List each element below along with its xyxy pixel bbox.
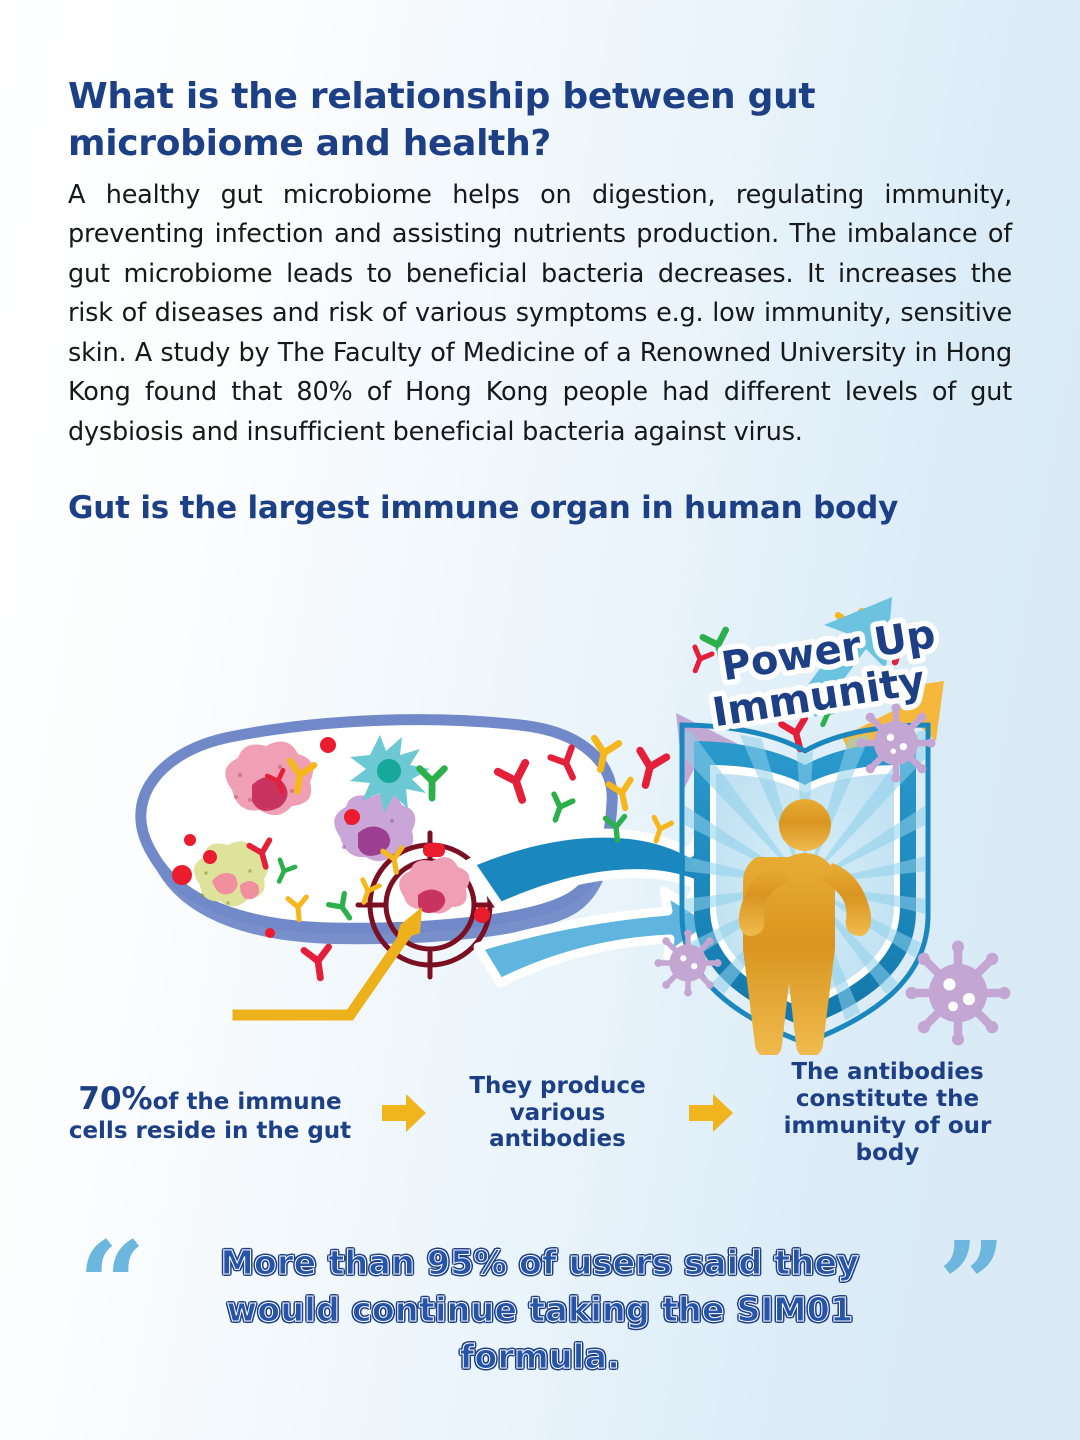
- virus-particle: [654, 929, 721, 996]
- page-title: What is the relationship between gut mic…: [68, 74, 1012, 168]
- quote-close-icon: ”: [938, 1226, 1006, 1344]
- immunity-illustration: Power Up Immunity: [0, 585, 1080, 1055]
- virus-particle: [906, 941, 1011, 1046]
- quote-open-icon: “: [78, 1226, 146, 1344]
- quote-text: More than 95% of users said they would c…: [170, 1240, 910, 1381]
- caption-percent: 70%: [78, 1081, 152, 1117]
- caption-arrow-2: [684, 1094, 738, 1132]
- quote-line-2: continue taking the SIM01 formula.: [352, 1290, 854, 1376]
- article-content: What is the relationship between gut mic…: [68, 74, 1012, 526]
- caption-produce-antibodies: They produce various antibodies: [448, 1073, 668, 1154]
- caption-arrow-1: [377, 1094, 431, 1132]
- caption-gut-immune-cells: 70%of the immune cells reside in the gut: [60, 1081, 360, 1144]
- virus-particle: [856, 703, 935, 782]
- process-caption-row: 70%of the immune cells reside in the gut…: [60, 1048, 1020, 1178]
- testimonial-quote: “ More than 95% of users said they would…: [60, 1232, 1020, 1372]
- section-subtitle: Gut is the largest immune organ in human…: [68, 490, 1012, 526]
- infographic-page: What is the relationship between gut mic…: [0, 0, 1080, 1440]
- article-body: A healthy gut microbiome helps on digest…: [68, 176, 1012, 453]
- caption-antibodies-immunity: The antibodies constitute the immunity o…: [755, 1059, 1020, 1167]
